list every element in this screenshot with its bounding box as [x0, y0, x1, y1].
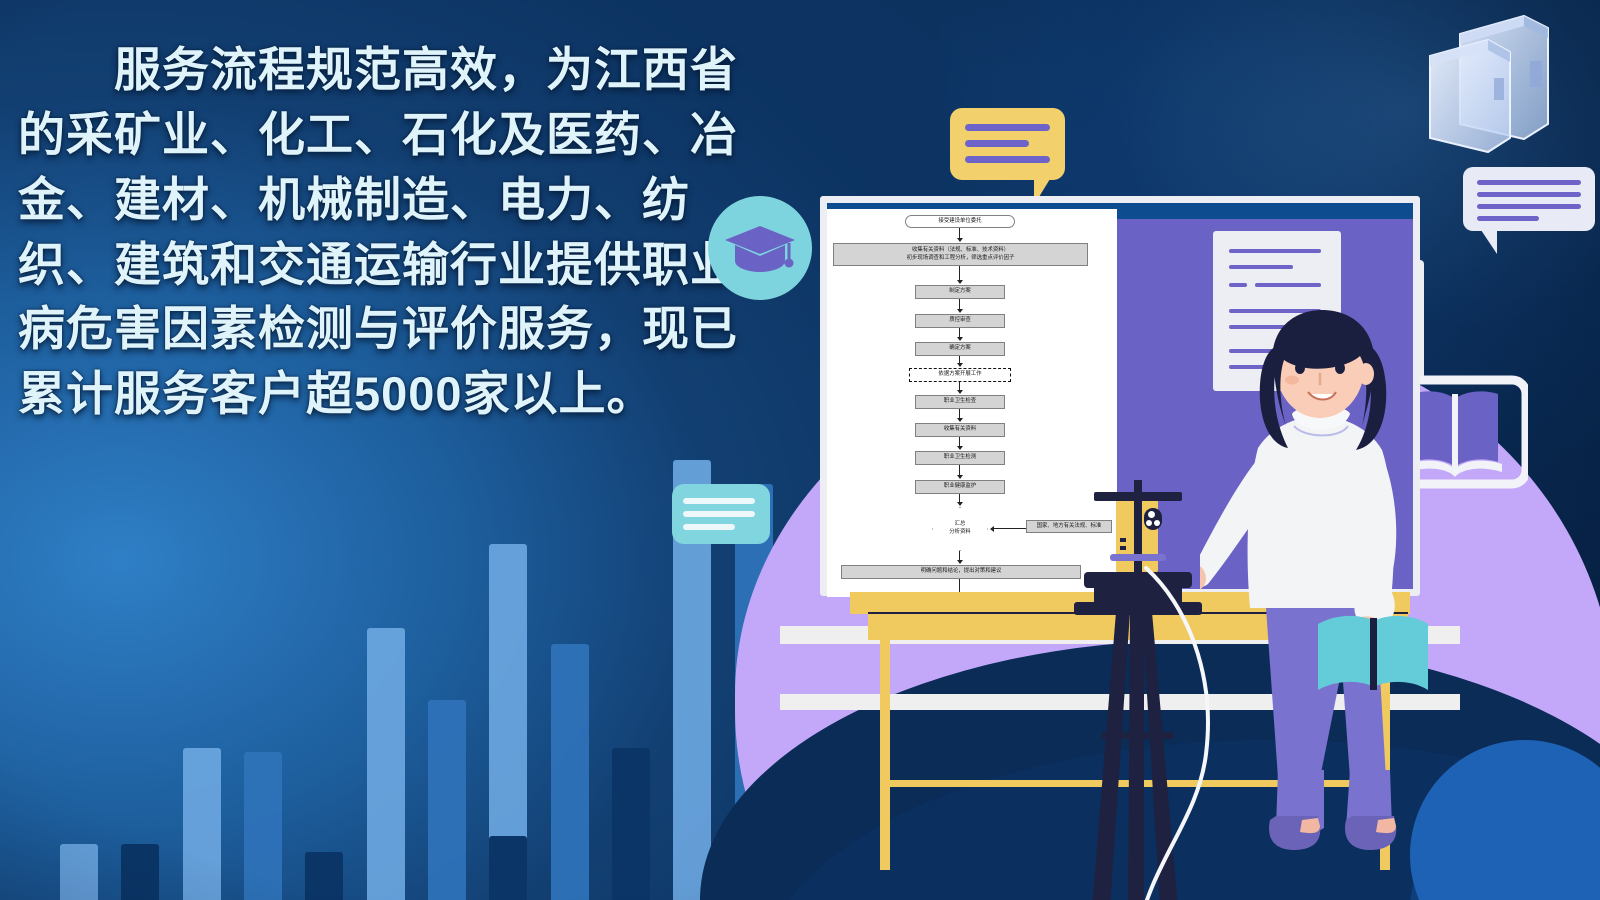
instrument-cable — [1124, 564, 1254, 900]
instrument-slider — [1110, 554, 1166, 561]
instrument-dial — [1144, 508, 1162, 530]
banner-canvas: 服务流程规范高效，为江西省的采矿业、化工、石化及医药、冶金、建材、机械制造、电力… — [0, 0, 1600, 900]
flow-node-n7: 职业卫生检查 — [915, 395, 1005, 409]
desk-leg — [880, 640, 890, 870]
instrument-button — [1120, 538, 1126, 542]
instrument-button — [1120, 546, 1126, 550]
flow-node-n2: 收集有关资料（法规、标准、技术资料） 初步现场调查和工程分析，筛选重点评价因子 — [833, 243, 1088, 266]
speech-bubble-icon — [1463, 167, 1595, 231]
page-title: 服务流程规范高效，为江西省的采矿业、化工、石化及医药、冶金、建材、机械制造、电力… — [18, 38, 778, 427]
illustration-scene: 接受建设单位委托 收集有关资料（法规、标准、技术资料） 初步现场调查和工程分析，… — [820, 196, 1440, 900]
flow-node-n10: 职业健康监护 — [915, 480, 1005, 494]
flow-node-n5: 确定方案 — [915, 342, 1005, 356]
headline-number: 5000 — [354, 367, 463, 420]
speech-bubble-icon — [672, 484, 770, 544]
graduation-cap-icon — [708, 196, 812, 300]
flow-node-n6: 依据方案开展工作 — [909, 368, 1011, 382]
flow-node-n3: 制定方案 — [915, 285, 1005, 299]
flow-node-n13: 明确问题和结论，提出对策和建议 — [841, 565, 1081, 579]
speech-bubble-icon — [950, 108, 1065, 180]
flow-node-n8: 收集有关资料 — [915, 423, 1005, 437]
flow-node-n4: 质控审查 — [915, 314, 1005, 328]
tripod-instrument — [1058, 446, 1218, 896]
flow-node-n9: 职业卫生检测 — [915, 451, 1005, 465]
flow-node-n11: 汇总 分析资料 — [932, 507, 988, 551]
flow-node-n1: 接受建设单位委托 — [905, 215, 1015, 228]
instrument-crossbar — [1094, 492, 1182, 501]
stacked-books-icon — [1382, 6, 1592, 181]
